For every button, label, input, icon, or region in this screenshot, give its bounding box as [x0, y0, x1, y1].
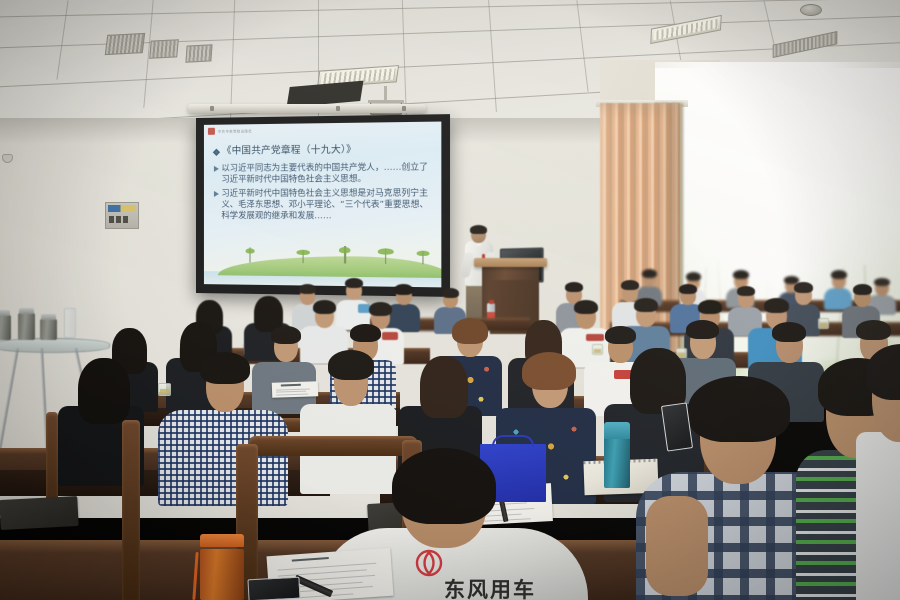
slide-content: 《中国共产党章程（十九大）》 以习近平同志为主要代表的中国共产党人，……创立了习…: [214, 145, 433, 226]
diamond-bullet-icon: [213, 148, 220, 155]
dongfeng-jacket-text: 东风用车: [444, 574, 536, 600]
conference-room-photo: 中共中央党校出版社 《中国共产党章程（十九大）》 以习近平同志为主要代表的中国共…: [0, 0, 900, 600]
wall-control-panel[interactable]: [105, 202, 139, 229]
slide-tree-icon: [245, 247, 254, 262]
panel-buttons[interactable]: [109, 216, 114, 223]
ceiling-speaker: [800, 4, 822, 16]
slide-title-line: 《中国共产党章程（十九大）》: [214, 145, 433, 158]
attendee: [300, 350, 396, 490]
panel-indicator: [108, 205, 136, 212]
logo-mark-icon: [208, 128, 215, 135]
slide-decorative-landscape: [204, 240, 441, 287]
dongfeng-logo-icon: [414, 548, 444, 578]
slide-bullet-item: 习近平新时代中国特色社会主义思想是对马克思列宁主义、毛泽东思想、邓小平理论、“三…: [214, 188, 433, 222]
lectern-top: [474, 258, 547, 267]
projection-screen: 中共中央党校出版社 《中国共产党章程（十九大）》 以习近平同志为主要代表的中国共…: [196, 114, 450, 297]
air-vent: [105, 33, 145, 55]
attendee: [856, 344, 900, 600]
arrow-bullet-icon: [214, 191, 219, 197]
thermos-flask[interactable]: [18, 308, 35, 340]
thermos-flask-teal[interactable]: [604, 422, 630, 488]
screen-roller-casing[interactable]: [188, 104, 426, 113]
air-vent: [149, 39, 179, 59]
slide-bullet-text: 习近平新时代中国特色社会主义思想是对马克思列宁主义、毛泽东思想、邓小平理论、“三…: [221, 188, 432, 222]
presentation-slide: 中共中央党校出版社 《中国共产党章程（十九大）》 以习近平同志为主要代表的中国共…: [204, 122, 441, 288]
slide-publisher-logo: 中共中央党校出版社: [208, 127, 252, 135]
arm: [646, 496, 708, 596]
thermos-flask-orange[interactable]: [200, 534, 244, 600]
bench-backrest: [248, 436, 418, 456]
slide-bullet-item: 以习近平同志为主要代表的中国共产党人，……创立了习近平新时代中国特色社会主义思想…: [214, 161, 433, 184]
attendee: [158, 352, 288, 500]
air-vent: [185, 44, 212, 62]
arrow-bullet-icon: [214, 166, 219, 172]
slide-tree-icon: [297, 250, 310, 263]
slide-tree-icon: [378, 248, 394, 264]
thermos-flask[interactable]: [0, 310, 11, 340]
slide-bullet-text: 以习近平同志为主要代表的中国共产党人，……创立了习近平新时代中国特色社会主义思想…: [221, 161, 432, 184]
glass-tumbler[interactable]: [64, 308, 76, 338]
presenter-hair: [470, 225, 487, 234]
smartphone[interactable]: [247, 577, 300, 600]
thermos-flask[interactable]: [40, 314, 57, 340]
bench-backrest: [122, 420, 140, 600]
table-glass-top: [0, 338, 110, 353]
slide-logo-text: 中共中央党校出版社: [218, 128, 252, 133]
slide-title: 《中国共产党章程（十九大）》: [222, 145, 356, 157]
dark-notebook[interactable]: [0, 496, 79, 530]
slide-tree-icon: [339, 246, 350, 264]
slide-tree-icon: [417, 251, 430, 265]
tote-handle: [492, 435, 534, 446]
